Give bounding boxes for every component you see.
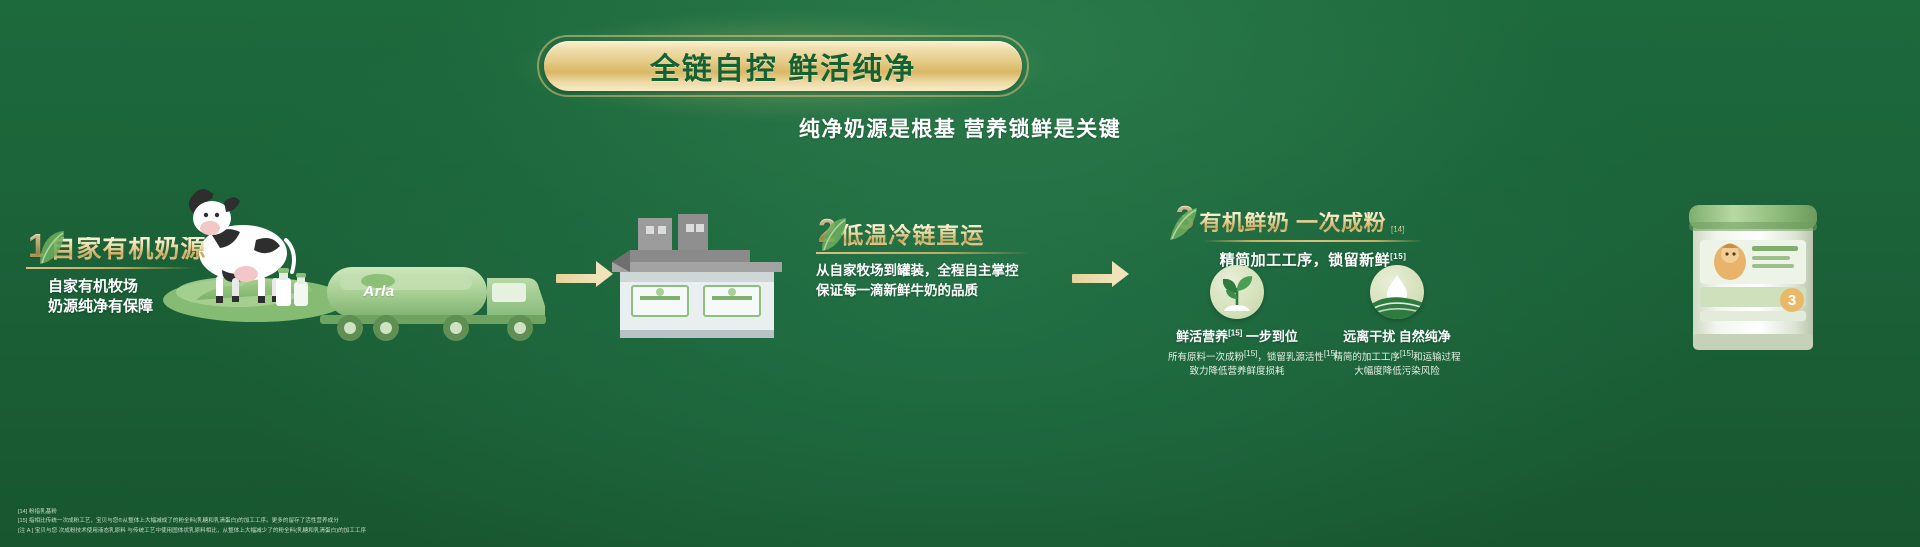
footnotes: [14] 粉指乳基粉 [15] 指相比传统一次成粉工艺，宝贝与您®从整体上大幅减…	[18, 508, 366, 537]
feature-desc-sup-a: [15]	[1400, 349, 1413, 358]
tanker-brand-label: Arla	[343, 283, 415, 300]
sprout-icon	[1210, 265, 1264, 319]
feature-desc-line2: 致力降低营养鲜度损耗	[1168, 365, 1306, 379]
feature-desc-b: ，锁留乳源活性	[1257, 352, 1324, 363]
feature-item: 鲜活营养[15] 一步到位 所有原料一次成粉[15]，锁留乳源活性[15] 致力…	[1168, 265, 1306, 380]
step-2-header: 2 低温冷链直运	[812, 209, 1052, 247]
feature-title-superscript: [15]	[1228, 329, 1242, 338]
step-1-body-line1: 自家有机牧场	[48, 277, 242, 297]
step-2-divider	[816, 252, 1031, 254]
feature-desc-b: 和运输过程	[1413, 352, 1461, 363]
feature-description: 所有原料一次成粉[15]，锁留乳源活性[15] 致力降低营养鲜度损耗	[1168, 348, 1306, 380]
feature-desc-line1: 所有原料一次成粉[15]，锁留乳源活性[15]	[1168, 348, 1306, 365]
feature-desc-sup-a: [15]	[1244, 349, 1257, 358]
footnote-item: [15] 指相比传统一次成粉工艺，宝贝与您®从整体上大幅减成了的粉全料(乳糖和乳…	[18, 517, 366, 527]
feature-desc-line2: 大幅度降低污染风险	[1328, 365, 1466, 379]
step-3-header: 3 有机鲜奶 一次成粉 [14]	[1168, 198, 1458, 234]
step-1-body-line2: 奶源纯净有保障	[48, 297, 242, 317]
step-3-subtitle-superscript: [15]	[1390, 252, 1406, 261]
banner-pill: 全链自控 鲜活纯净	[544, 41, 1022, 91]
footnote-item: [14] 粉指乳基粉	[18, 508, 366, 518]
feature-title-text: 鲜活营养	[1176, 329, 1228, 344]
step-3-divider	[1203, 240, 1423, 242]
step-1-title: 自家有机奶源	[50, 237, 206, 262]
step-3-title-superscript: [14]	[1391, 225, 1404, 234]
feature-item: 远离干扰 自然纯净 精简的加工工序[15]和运输过程 大幅度降低污染风险	[1328, 265, 1466, 380]
footnote-item: [注 A ] 宝贝与您 次成粉技术使用液态乳原料 与传统工艺中使用固体状乳原料相…	[18, 527, 366, 537]
feature-desc-a: 所有原料一次成粉	[1168, 352, 1244, 363]
step-1-number: 1	[28, 229, 46, 262]
feature-desc-line1: 精简的加工工序[15]和运输过程	[1328, 348, 1466, 365]
step-2: 2 低温冷链直运 从自家牧场到罐装，全程自主掌控 保证每一滴新鲜牛奶的品质	[812, 209, 1052, 300]
step-2-body: 从自家牧场到罐装，全程自主掌控 保证每一滴新鲜牛奶的品质	[816, 261, 1052, 300]
step-1: 1 自家有机奶源 自家有机牧场 奶源纯净有保障	[22, 222, 242, 318]
feature-description: 精简的加工工序[15]和运输过程 大幅度降低污染风险	[1328, 348, 1466, 380]
feature-desc-a: 精简的加工工序	[1333, 352, 1400, 363]
step-1-body: 自家有机牧场 奶源纯净有保障	[48, 277, 242, 318]
step-3: 3 有机鲜奶 一次成粉 [14] 精简加工工序，锁留新鲜[15]	[1168, 198, 1458, 270]
feature-title-tail: 一步到位	[1242, 329, 1298, 344]
headline-banner: 全链自控 鲜活纯净	[537, 35, 1029, 97]
step-3-number: 3	[1176, 201, 1194, 234]
page-subtitle: 纯净奶源是根基 营养锁鲜是关键	[0, 113, 1920, 143]
step-2-title: 低温冷链直运	[840, 224, 984, 247]
step-2-body-line1: 从自家牧场到罐装，全程自主掌控	[816, 261, 1052, 281]
banner-title: 全链自控 鲜活纯净	[650, 44, 916, 88]
step-2-body-line2: 保证每一滴新鲜牛奶的品质	[816, 281, 1052, 301]
step-3-title: 有机鲜奶 一次成粉	[1199, 212, 1386, 234]
droplet-field-icon	[1370, 265, 1424, 319]
feature-title: 鲜活营养[15] 一步到位	[1168, 326, 1306, 345]
step-1-divider	[26, 267, 196, 269]
feature-list: 鲜活营养[15] 一步到位 所有原料一次成粉[15]，锁留乳源活性[15] 致力…	[1168, 265, 1468, 380]
step-1-header: 1 自家有机奶源	[22, 222, 242, 262]
feature-title: 远离干扰 自然纯净	[1328, 326, 1466, 345]
step-2-number: 2	[818, 214, 836, 247]
